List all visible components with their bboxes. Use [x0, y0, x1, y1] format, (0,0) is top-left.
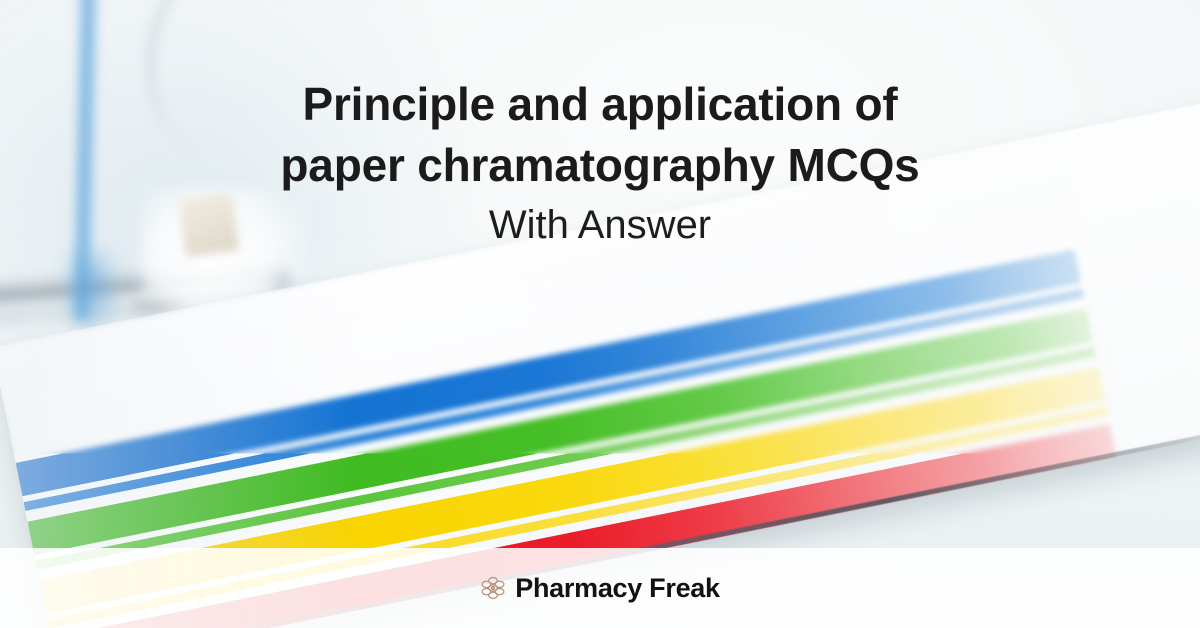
brand-name: Pharmacy Freak	[515, 573, 719, 604]
title-line-2: paper chramatography MCQs	[0, 135, 1200, 196]
flower-cluster-icon	[480, 575, 506, 601]
title-subtitle: With Answer	[0, 201, 1200, 250]
brand-logo[interactable]: Pharmacy Freak	[480, 573, 719, 604]
title-line-1: Principle and application of	[0, 74, 1200, 135]
share-card-canvas: Principle and application of paper chram…	[0, 0, 1200, 628]
footer-bar: Pharmacy Freak	[0, 548, 1200, 628]
page-title: Principle and application of paper chram…	[0, 0, 1200, 250]
